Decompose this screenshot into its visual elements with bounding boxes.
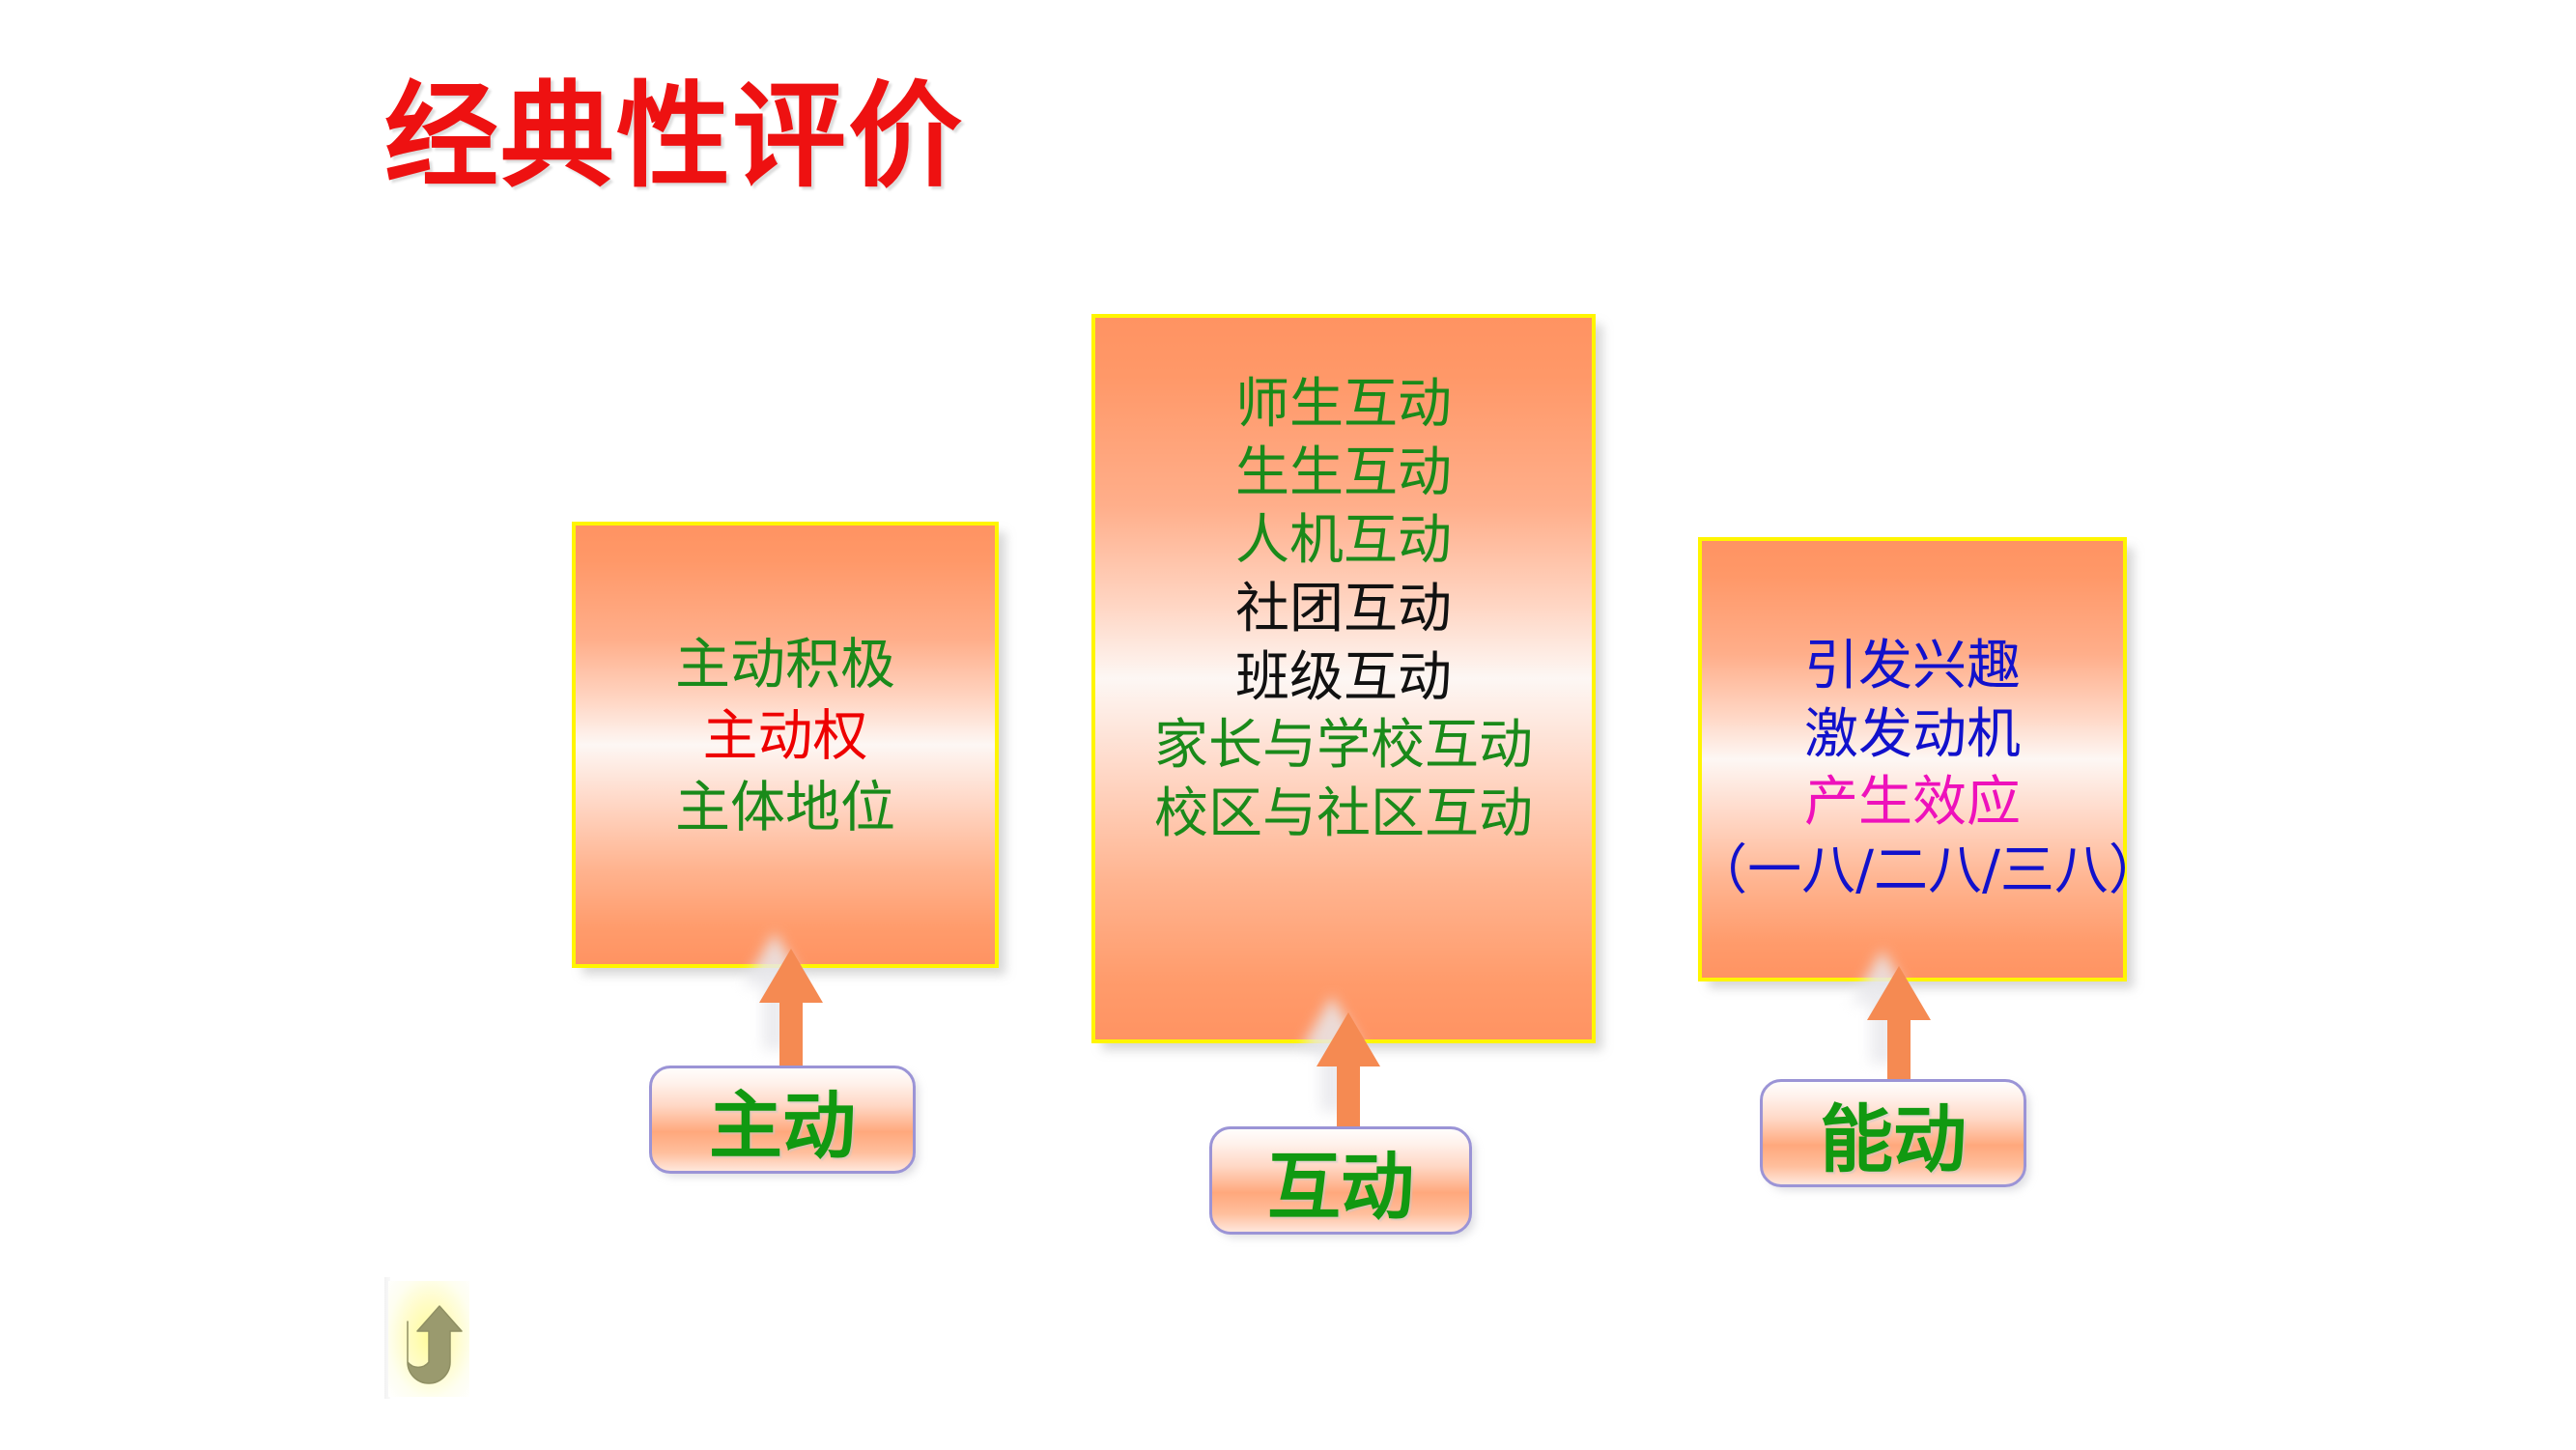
arrow-body bbox=[1867, 966, 1931, 1080]
panel-dynamic-line-4: （一八/二八/三八） bbox=[1693, 838, 2163, 906]
panel-dynamic-line-1: 引发兴趣 bbox=[1804, 633, 2021, 701]
callout-interaction-label: 互动 bbox=[1267, 1127, 1414, 1234]
panel-interaction-lines: 师生互动 生生互动 人机互动 社团互动 班级互动 家长与学校互动 校区与社区互动 bbox=[1095, 371, 1592, 848]
panel-interaction-line-5: 班级互动 bbox=[1235, 644, 1452, 713]
panel-active: 主动积极 主动权 主体地位 bbox=[572, 522, 999, 968]
arrow-head bbox=[1867, 966, 1931, 1020]
panel-interaction: 师生互动 生生互动 人机互动 社团互动 班级互动 家长与学校互动 校区与社区互动 bbox=[1091, 314, 1596, 1043]
callout-active[interactable]: 主动 bbox=[649, 1066, 916, 1174]
page-title: 经典性评价 bbox=[384, 72, 964, 200]
callout-interaction[interactable]: 互动 bbox=[1209, 1126, 1472, 1235]
slide-canvas: 经典性评价 主动积极 主动权 主体地位 师生互动 生生互动 人机互动 社团互动 … bbox=[0, 0, 2576, 1450]
arrow-stem bbox=[1337, 1065, 1360, 1128]
callout-dynamic-label: 能动 bbox=[1820, 1080, 1967, 1186]
panel-dynamic-line-3: 产生效应 bbox=[1804, 769, 2021, 838]
arrow-head bbox=[1316, 1012, 1380, 1066]
panel-active-line-2: 主动权 bbox=[703, 701, 868, 773]
up-arrow-icon-interaction bbox=[1316, 1012, 1380, 1128]
panel-interaction-line-2: 生生互动 bbox=[1235, 440, 1452, 508]
arrow-body bbox=[1316, 1012, 1380, 1128]
panel-interaction-line-7: 校区与社区互动 bbox=[1154, 781, 1533, 849]
arrow-stem bbox=[1887, 1018, 1911, 1080]
arrow-head bbox=[759, 949, 823, 1003]
up-arrow-icon-dynamic bbox=[1867, 966, 1931, 1080]
panel-active-line-3: 主体地位 bbox=[675, 773, 895, 844]
panel-dynamic-lines: 引发兴趣 激发动机 产生效应 （一八/二八/三八） bbox=[1702, 633, 2123, 906]
u-turn-arrow-glyph bbox=[394, 1285, 464, 1395]
panel-dynamic: 引发兴趣 激发动机 产生效应 （一八/二八/三八） bbox=[1698, 537, 2127, 981]
up-arrow-icon-active bbox=[759, 949, 823, 1066]
panel-interaction-line-3: 人机互动 bbox=[1235, 507, 1452, 576]
u-turn-arrow-icon[interactable] bbox=[394, 1285, 464, 1395]
panel-dynamic-line-2: 激发动机 bbox=[1804, 701, 2021, 770]
panel-active-lines: 主动积极 主动权 主体地位 bbox=[576, 630, 995, 843]
panel-active-line-1: 主动积极 bbox=[675, 630, 895, 701]
panel-interaction-line-6: 家长与学校互动 bbox=[1154, 712, 1533, 781]
callout-active-label: 主动 bbox=[709, 1066, 856, 1173]
arrow-body bbox=[759, 949, 823, 1066]
arrow-stem bbox=[779, 1001, 803, 1066]
panel-interaction-line-4: 社团互动 bbox=[1235, 576, 1452, 644]
callout-dynamic[interactable]: 能动 bbox=[1760, 1079, 2026, 1187]
panel-interaction-line-1: 师生互动 bbox=[1235, 371, 1452, 440]
